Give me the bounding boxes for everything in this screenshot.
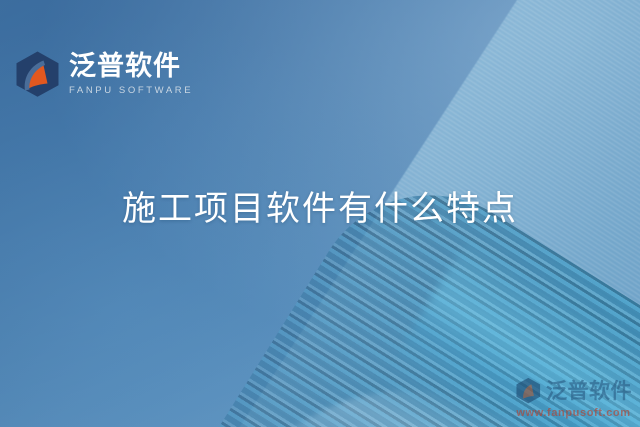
fanpu-hexagon-sail-watermark-icon — [515, 377, 541, 404]
brand-logo: 泛普软件 FANPU SOFTWARE — [14, 50, 193, 98]
watermark-logo-row: 泛普软件 — [515, 375, 632, 405]
marketing-banner: 泛普软件 FANPU SOFTWARE 施工项目软件有什么特点 泛普软件 www… — [0, 0, 640, 427]
site-watermark: 泛普软件 www.fanpusoft.com — [515, 375, 632, 419]
fanpu-hexagon-sail-logo-icon — [14, 50, 60, 98]
skyscraper-cornice-curve — [195, 330, 640, 427]
watermark-brand-name: 泛普软件 — [546, 375, 632, 405]
page-title: 施工项目软件有什么特点 — [0, 181, 640, 230]
brand-name-en: FANPU SOFTWARE — [69, 86, 193, 96]
glass-reflection-band — [391, 236, 640, 427]
brand-name-cn: 泛普软件 — [69, 53, 193, 80]
watermark-url: www.fanpusoft.com — [516, 407, 630, 419]
brand-logo-text: 泛普软件 FANPU SOFTWARE — [69, 53, 193, 96]
